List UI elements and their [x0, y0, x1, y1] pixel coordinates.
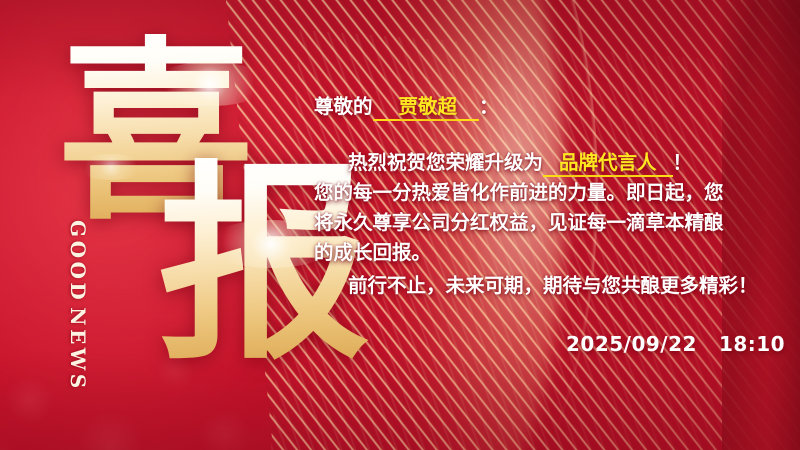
message-body: 尊敬的贾敬超： 热烈祝贺您荣耀升级为品牌代言人！ 您的每一分热爱皆化作前进的力量… [314, 92, 782, 301]
timestamp: 2025/09/22 18:10 [566, 332, 785, 356]
recipient-name: 贾敬超 [373, 95, 480, 121]
congratulation-prefix: 热烈祝贺您荣耀升级为 [348, 151, 543, 174]
salutation-suffix: ： [479, 95, 499, 118]
timestamp-date: 2025/09/22 [566, 332, 697, 356]
salutation-prefix: 尊敬的 [314, 95, 373, 118]
timestamp-time: 18:10 [719, 332, 785, 356]
award-title-highlight: 品牌代言人 [543, 151, 673, 177]
body-line-3: 将永久尊享公司分红权益，见证每一滴草本精酿 [314, 208, 782, 238]
emblem: 喜 报 GOOD NEWS [46, 34, 336, 374]
body-line-2: 您的每一分热爱皆化作前进的力量。即日起，您 [314, 178, 782, 208]
closing-line: 前行不止，未来可期，期待与您共酿更多精彩！ [314, 271, 782, 301]
salutation-line: 尊敬的贾敬超： [314, 92, 782, 122]
closing-text: 前行不止，未来可期，期待与您共酿更多精彩！ [348, 274, 758, 297]
good-news-poster: 喜 报 GOOD NEWS 尊敬的贾敬超： 热烈祝贺您荣耀升级为品牌代言人！ 您… [0, 0, 800, 450]
emblem-subtitle-news: NEWS [66, 307, 90, 391]
body-line-4: 的成长回报。 [314, 238, 782, 268]
congratulation-line: 热烈祝贺您荣耀升级为品牌代言人！ [314, 148, 782, 178]
congratulation-suffix: ！ [673, 151, 693, 174]
emblem-subtitle-good: GOOD [66, 220, 90, 303]
emblem-subtitle: GOOD NEWS [66, 220, 90, 260]
